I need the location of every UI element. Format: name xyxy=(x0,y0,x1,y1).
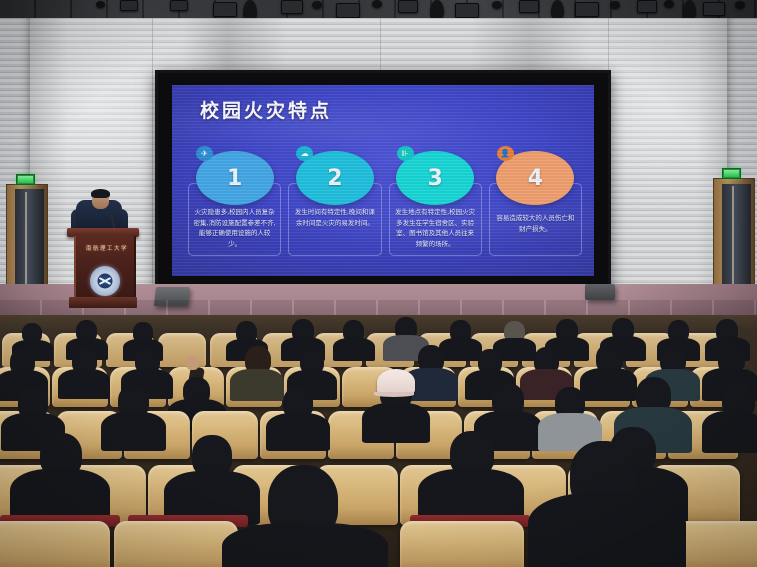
left-exit-sign-glow xyxy=(18,176,33,183)
paper-plane-icon: ✈ xyxy=(196,146,213,161)
ceiling-light-12 xyxy=(610,1,620,9)
right-door-panel xyxy=(722,184,751,291)
card-3-text: 发生地点有特定性,校园火灾多发生在学生宿舍区、实验室、图书馆及其他人员往来频繁的… xyxy=(394,207,477,250)
podium-body: 南航理工大学 xyxy=(74,236,136,298)
podium: 南航理工大学 xyxy=(72,228,134,312)
card-3-badge-glyph: ⊪ xyxy=(402,150,409,158)
ceiling-light-11 xyxy=(575,2,599,17)
ceiling-light-14 xyxy=(664,0,674,8)
slide-cards: 1 ✈ 火灾隐患多,校园内人员复杂密集,消防设施配置参差不齐,能够正确使用设施的… xyxy=(188,151,582,268)
right-exit-sign xyxy=(722,168,741,179)
right-exit-door[interactable] xyxy=(713,178,755,296)
card-2-text: 发生时间有特定性,晚间和课余时间是火灾的易发时间。 xyxy=(293,207,376,228)
lecture-hall-photo: 校园火灾特点 1 ✈ 火灾隐患多,校园内人员复杂密集,消防设施配置参差不齐,能够… xyxy=(0,0,757,567)
card-4-badge-glyph: 👤 xyxy=(500,150,510,158)
ceiling-light-6 xyxy=(372,0,382,8)
ceiling-light-5 xyxy=(336,3,360,18)
ceiling-light-1 xyxy=(170,0,188,11)
card-3-number: 3 xyxy=(427,166,442,191)
ceiling-light-3 xyxy=(281,0,303,14)
ceiling-light-17 xyxy=(96,1,105,8)
right-door-edge xyxy=(732,186,734,288)
card-1-badge-glyph: ✈ xyxy=(201,150,208,158)
left-exit-door[interactable] xyxy=(6,184,48,298)
university-emblem xyxy=(90,266,120,296)
audience-shoulders-r2-3 xyxy=(230,369,284,401)
phone-holder-hand xyxy=(186,356,199,370)
ceiling-light-9 xyxy=(492,1,502,9)
podium-university-name: 南航理工大学 xyxy=(76,244,138,252)
ceiling-light-7 xyxy=(398,0,418,13)
audience-shoulders-r5-2 xyxy=(528,493,686,567)
audience-shoulders-r5-1 xyxy=(222,523,388,567)
card-2-badge-glyph: ☁ xyxy=(301,150,309,158)
seat-r5-3 xyxy=(400,521,524,567)
audience-shoulders-r1-5 xyxy=(333,338,375,361)
ceiling-light-0 xyxy=(120,0,138,11)
chart-bar-icon: ⊪ xyxy=(397,146,414,161)
card-2-number: 2 xyxy=(327,166,342,191)
led-screen: 校园火灾特点 1 ✈ 火灾隐患多,校园内人员复杂密集,消防设施配置参差不齐,能够… xyxy=(155,70,611,291)
ceiling-light-8 xyxy=(455,3,479,18)
left-door-edge xyxy=(25,192,27,291)
seat-r5-2 xyxy=(114,521,238,567)
audience-shoulders-r1-7 xyxy=(439,338,482,361)
audience-shoulders-r3-2 xyxy=(101,412,166,451)
audience-area xyxy=(0,315,757,567)
presentation-slide: 校园火灾特点 1 ✈ 火灾隐患多,校园内人员复杂密集,消防设施配置参差不齐,能够… xyxy=(172,85,594,276)
wall-seam-3 xyxy=(380,18,381,70)
slide-card-3: 3 ⊪ 发生地点有特定性,校园火灾多发生在学生宿舍区、实验室、图书馆及其他人员往… xyxy=(389,151,482,268)
speaker-hair xyxy=(91,189,110,198)
seat-r5-1 xyxy=(0,521,110,567)
slide-card-2: 2 ☁ 发生时间有特定性,晚间和课余时间是火灾的易发时间。 xyxy=(288,151,381,268)
ceiling-light-16 xyxy=(735,1,745,9)
audience-shoulders-cap-user xyxy=(362,403,430,443)
right-exit-sign-glow xyxy=(724,170,739,177)
slide-card-4: 4 👤 容易造成较大的人员伤亡和财产损失。 xyxy=(489,151,582,268)
left-door-panel xyxy=(15,189,44,292)
slide-title: 校园火灾特点 xyxy=(200,96,332,123)
ceiling-speaker-3 xyxy=(551,0,564,20)
stage-monitor-speaker-right xyxy=(585,284,615,300)
ceiling-light-10 xyxy=(519,0,539,13)
card-1-number: 1 xyxy=(227,166,242,191)
card-4-number: 4 xyxy=(528,166,543,191)
ceiling-light-4 xyxy=(312,1,322,9)
card-1-text: 火灾隐患多,校园内人员复杂密集,消防设施配置参差不齐,能够正确使用设施的人较少。 xyxy=(193,207,276,250)
audience-shoulders-r2-8 xyxy=(580,368,637,401)
cap-brim xyxy=(374,392,414,397)
slide-card-1: 1 ✈ 火灾隐患多,校园内人员复杂密集,消防设施配置参差不齐,能够正确使用设施的… xyxy=(188,151,281,268)
podium-base xyxy=(69,297,137,308)
person-icon: 👤 xyxy=(497,146,514,161)
audience-shoulders-r3-3 xyxy=(266,413,330,451)
ceiling-light-2 xyxy=(213,2,237,17)
card-4-text: 容易造成较大的人员伤亡和财产损失。 xyxy=(494,213,577,234)
ceiling-speaker-2 xyxy=(430,0,444,20)
audience-shoulders-r3-7 xyxy=(702,411,757,453)
left-exit-sign xyxy=(16,174,35,185)
baseball-cap xyxy=(377,369,415,395)
audience-shoulders-r2-1 xyxy=(58,369,110,399)
ceiling-light-15 xyxy=(703,2,725,16)
wall-seam-1 xyxy=(152,18,153,310)
ceiling-speaker-4 xyxy=(683,0,696,20)
ceiling-light-13 xyxy=(637,0,657,13)
